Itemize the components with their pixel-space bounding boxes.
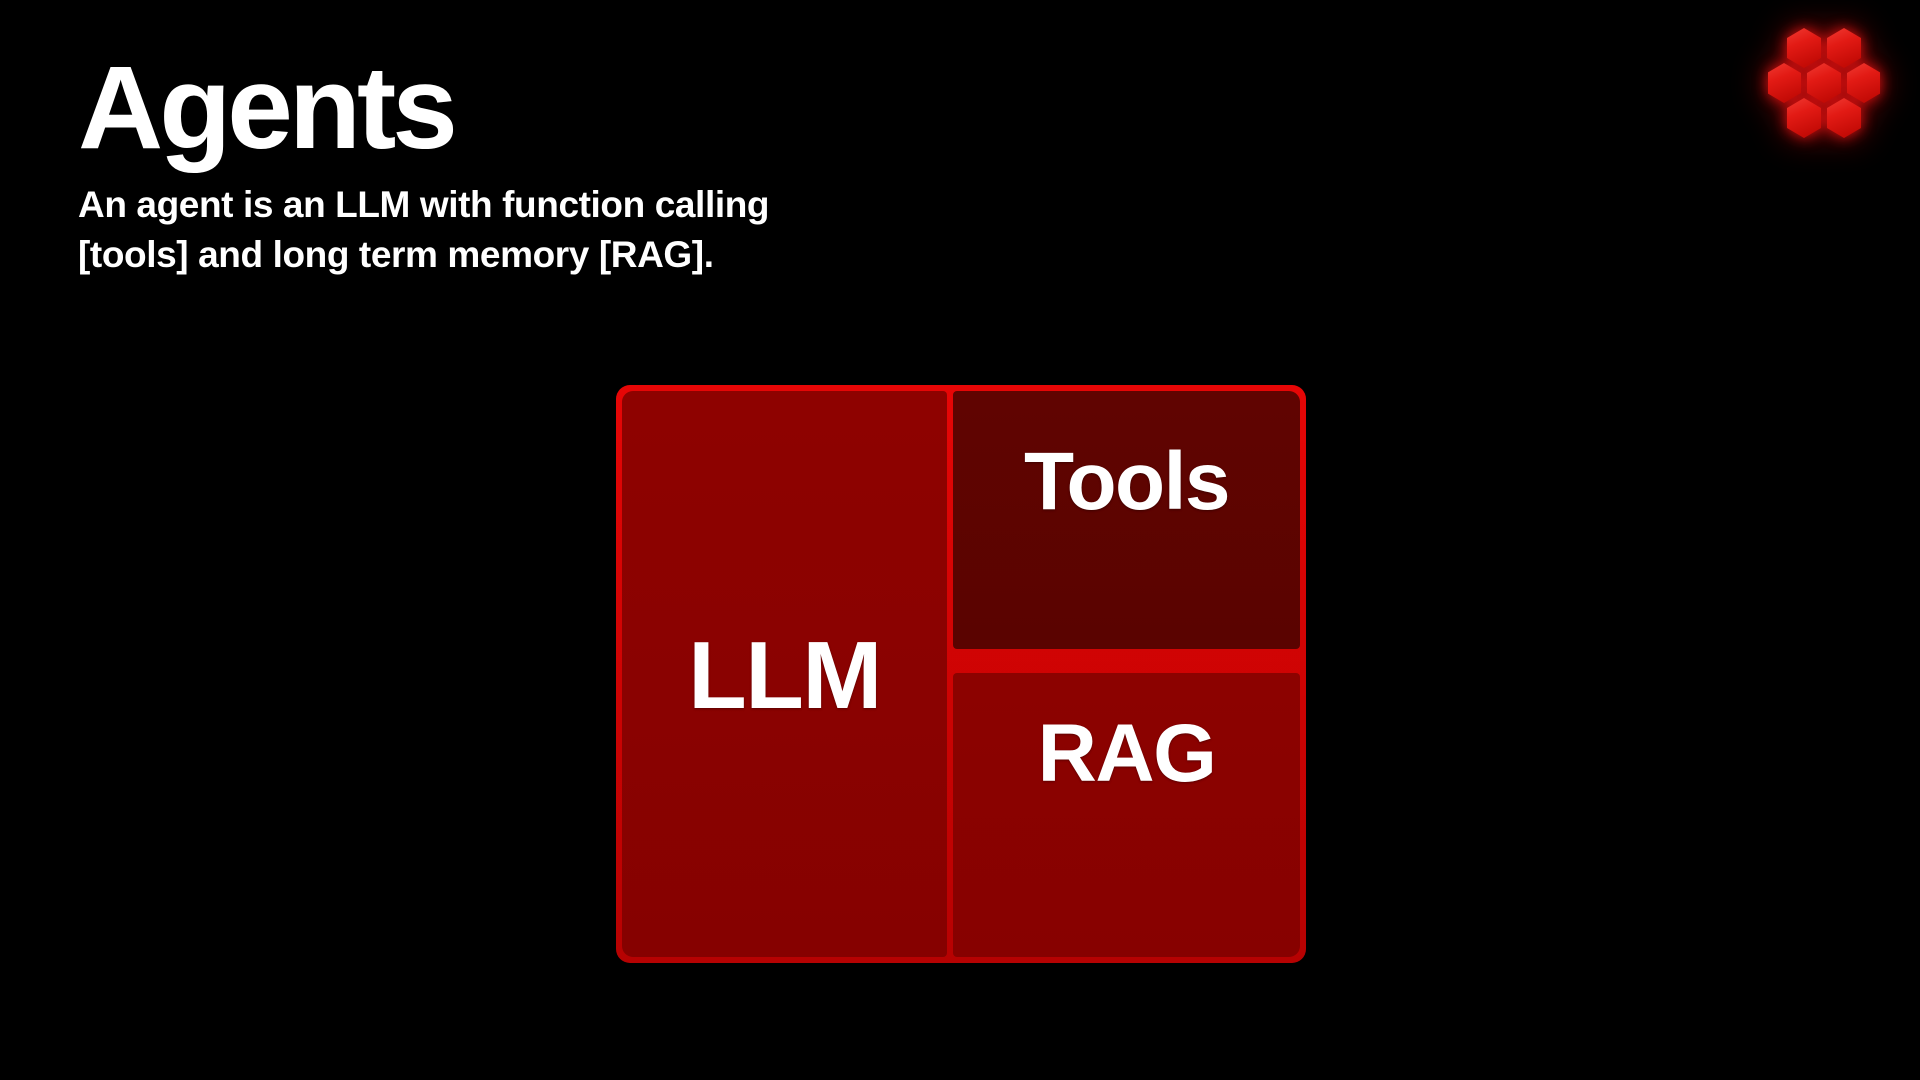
hexagon-cluster-icon bbox=[1768, 22, 1880, 157]
subtitle: An agent is an LLM with function calling… bbox=[78, 180, 1278, 278]
subtitle-line-1: An agent is an LLM with function calling bbox=[78, 180, 1278, 229]
page-title: Agents bbox=[78, 48, 1278, 168]
diagram-panel-tools-label: Tools bbox=[1024, 441, 1229, 523]
slide-canvas: Agents An agent is an LLM with function … bbox=[0, 0, 1920, 1080]
diagram-panel-tools[interactable]: Tools bbox=[953, 391, 1300, 649]
hexagon-cluster-logo bbox=[1768, 22, 1880, 157]
diagram-panel-rag-label: RAG bbox=[1038, 713, 1216, 795]
agent-architecture-diagram: LLM Tools RAG bbox=[616, 385, 1306, 963]
diagram-panel-llm[interactable]: LLM bbox=[622, 391, 947, 957]
diagram-right-column: Tools RAG bbox=[953, 391, 1300, 957]
diagram-panel-rag[interactable]: RAG bbox=[953, 673, 1300, 957]
title-block: Agents An agent is an LLM with function … bbox=[78, 48, 1278, 279]
subtitle-line-2: [tools] and long term memory [RAG]. bbox=[78, 230, 1278, 279]
diagram-panel-llm-label: LLM bbox=[688, 628, 881, 724]
